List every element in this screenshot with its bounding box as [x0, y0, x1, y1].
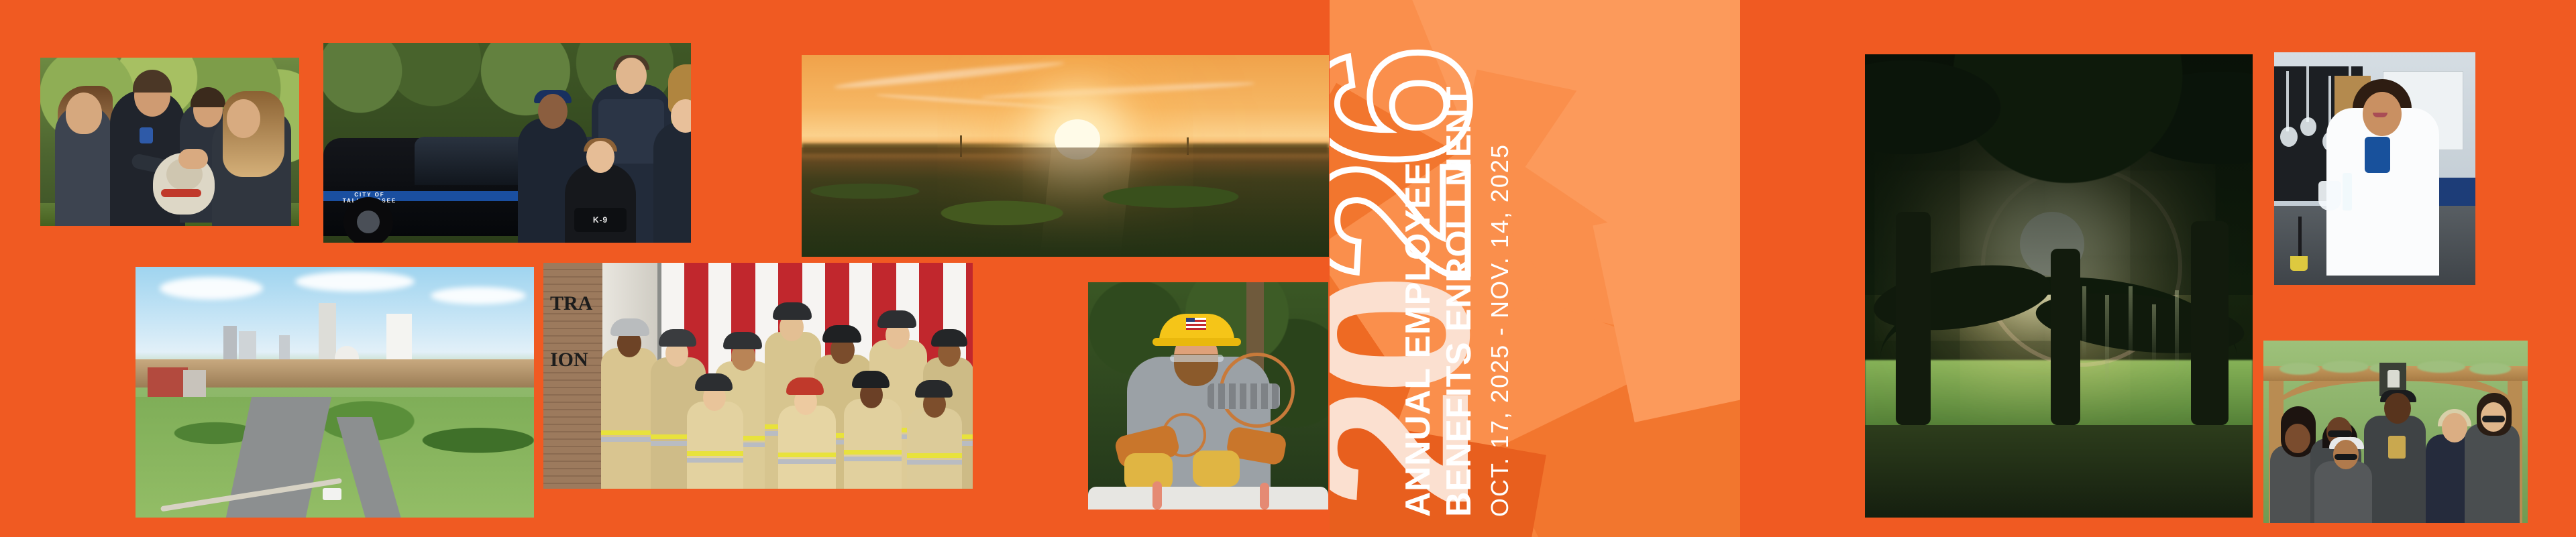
photo-utility-lineman [1088, 282, 1328, 510]
photo-city-skyline-park-aerial [136, 267, 534, 518]
photo-sunset-aerial-landscape [802, 55, 1329, 257]
photo-police-officers-with-cruiser: CITY OF TALLAHASSEE K-9 [323, 43, 691, 243]
photo-firefighters-group: TRA ION 327 [543, 263, 973, 489]
k9-vest-label: K-9 [574, 208, 627, 232]
photo-employees-outdoor-event [2263, 341, 2528, 523]
photo-animal-control-officers-with-dog [40, 58, 299, 226]
benefits-enrollment-banner: CITY OF TALLAHASSEE K-9 TRA ION 327 [0, 0, 2576, 537]
center-title-panel [1330, 0, 1740, 537]
photo-live-oaks-sunburst [1865, 54, 2253, 518]
station-sign-text-1: TRA [550, 292, 592, 315]
enrollment-dates: OCT. 17, 2025 - NOV. 14, 2025 [1486, 143, 1514, 517]
station-sign-text-2: ION [550, 349, 588, 371]
photo-laboratory-scientist [2274, 52, 2475, 285]
banner-title-line-1: ANNUAL EMPLOYEE [1398, 162, 1438, 517]
banner-title-line-2: BENEFITS ENROLLMENT [1439, 86, 1479, 517]
